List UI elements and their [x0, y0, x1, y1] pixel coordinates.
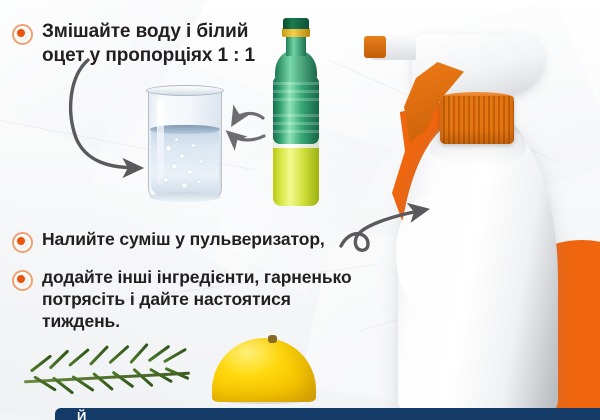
bottle-rib [273, 90, 319, 93]
step-3: додайте інші інгредієнти, гарненько потр… [12, 266, 362, 333]
bubble [180, 154, 184, 158]
glass-rim [146, 85, 224, 96]
spray-bottle [352, 8, 600, 412]
bubble [175, 138, 178, 141]
step-1: Змішайте воду і білий оцет у пропорціях … [12, 20, 292, 68]
bottle-rib [273, 130, 319, 133]
rosemary-needle [163, 348, 187, 364]
spray-bottle-highlight [396, 192, 466, 310]
step-3-text: додайте інші інгредієнти, гарненько потр… [42, 266, 362, 333]
bottle-rib [273, 82, 319, 85]
rosemary-needle [108, 345, 129, 365]
lemon-stem [268, 335, 277, 343]
rosemary-sprig [18, 348, 198, 400]
glass-of-water [148, 88, 222, 200]
step-2: Налийте суміш у пульверизатор, [12, 228, 342, 253]
vinegar-liquid [273, 144, 319, 206]
lemon-half [212, 338, 316, 402]
step-1-text: Змішайте воду і білий оцет у пропорціях … [42, 20, 292, 68]
vinegar-bottle-upper [273, 76, 319, 144]
bottom-bar-text: Й [77, 410, 86, 420]
spray-bottle-nozzle-tip [364, 36, 386, 58]
rosemary-needle [49, 349, 70, 369]
orange-dot-bullet-icon [12, 24, 33, 45]
rosemary-needle [112, 371, 135, 389]
bottom-navy-bar: Й [55, 408, 600, 420]
bubble [172, 164, 177, 169]
bubble [164, 178, 168, 182]
bubble [192, 144, 195, 147]
bubble [166, 146, 171, 151]
bottle-rib [273, 98, 319, 101]
bubble [200, 160, 203, 163]
bubble [197, 180, 200, 183]
glass-base [149, 192, 221, 202]
rosemary-needle [68, 348, 90, 367]
bottle-rib [273, 122, 319, 125]
orange-dot-bullet-icon [12, 232, 33, 253]
orange-dot-bullet-icon [12, 270, 33, 291]
lemon-peel [212, 338, 316, 402]
rosemary-needle [89, 345, 109, 366]
bottle-rib [273, 114, 319, 117]
bubble [182, 183, 187, 188]
glass-highlight [157, 100, 164, 186]
step-2-text: Налийте суміш у пульверизатор, [42, 228, 325, 250]
bubble [188, 170, 192, 174]
rosemary-needle [30, 354, 52, 372]
infographic-canvas: Змішайте воду і білий оцет у пропорціях … [0, 0, 600, 420]
spray-bottle-cap [440, 96, 514, 144]
